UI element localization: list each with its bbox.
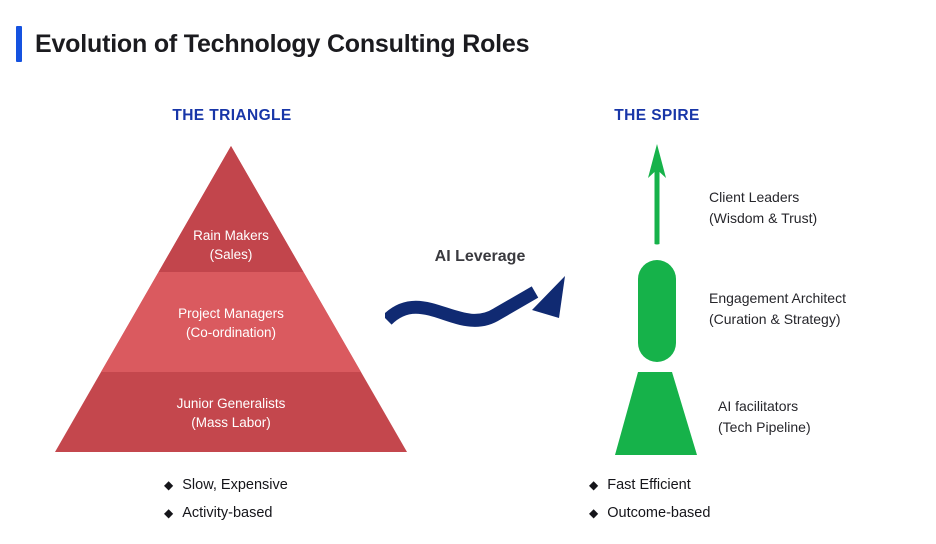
title-accent-bar [16,26,22,62]
spire-segment-middle-detail: (Curation & Strategy) [709,309,846,330]
spire-segment-bottom-role: AI facilitators [718,396,811,417]
spire-segment-top-detail: (Wisdom & Trust) [709,208,817,229]
diamond-bullet-icon: ◆ [589,477,598,494]
list-item: ◆ Fast Efficient [589,477,710,494]
left-column-heading: THE TRIANGLE [132,107,332,125]
right-summary-list: ◆ Fast Efficient ◆ Outcome-based [589,477,710,533]
list-item: ◆ Slow, Expensive [164,477,288,494]
pyramid-diagram: Rain Makers (Sales) Project Managers (Co… [55,146,407,452]
spire-shape [612,140,702,456]
spire-segment-bottom-detail: (Tech Pipeline) [718,417,811,438]
diamond-bullet-icon: ◆ [164,505,173,522]
pyramid-tier-middle [55,272,407,372]
spire-segment-middle-role: Engagement Architect [709,288,846,309]
ai-leverage-group: AI Leverage [385,248,575,328]
page-header: Evolution of Technology Consulting Roles [16,26,529,62]
list-item: ◆ Activity-based [164,505,288,522]
spire-segment-bottom-label: AI facilitators (Tech Pipeline) [718,396,811,438]
page-title: Evolution of Technology Consulting Roles [35,30,529,59]
ai-leverage-label: AI Leverage [385,248,575,266]
spire-diagram [612,140,702,456]
spire-segment-top [648,144,666,244]
list-item: ◆ Outcome-based [589,505,710,522]
spire-segment-middle-label: Engagement Architect (Curation & Strateg… [709,288,846,330]
spire-segment-bottom [615,372,697,455]
spire-segment-middle [638,260,676,362]
list-item-label: Outcome-based [607,505,710,522]
pyramid-shape [55,146,407,452]
diagram-canvas: Evolution of Technology Consulting Roles… [0,0,936,544]
spire-segment-top-label: Client Leaders (Wisdom & Trust) [709,187,817,229]
list-item-label: Slow, Expensive [182,477,288,494]
list-item-label: Activity-based [182,505,272,522]
list-item-label: Fast Efficient [607,477,691,494]
left-summary-list: ◆ Slow, Expensive ◆ Activity-based [164,477,288,533]
diamond-bullet-icon: ◆ [164,477,173,494]
curved-arrow-right-icon [385,274,575,332]
right-column-heading: THE SPIRE [577,107,737,125]
pyramid-tier-top [55,146,407,272]
diamond-bullet-icon: ◆ [589,505,598,522]
spire-segment-top-role: Client Leaders [709,187,817,208]
